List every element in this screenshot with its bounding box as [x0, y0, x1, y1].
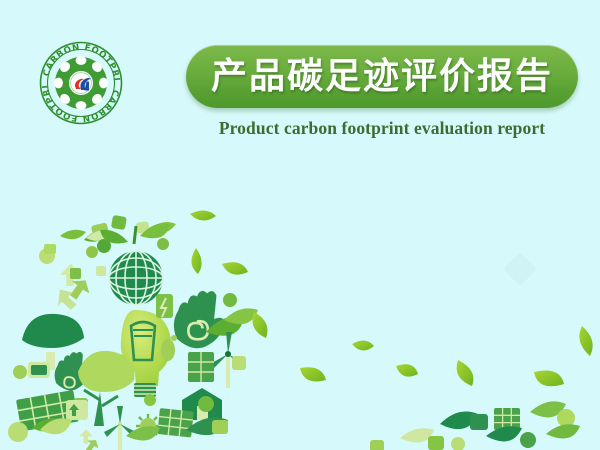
title-banner: 产品碳足迹评价报告: [186, 45, 578, 108]
leaf-icon: [352, 340, 374, 350]
hand-spiral-icon: [174, 291, 225, 348]
icon-cluster-toes: [86, 215, 176, 305]
recycle-icon-2: [79, 429, 98, 450]
report-cover-page: CARBON FOOTPRINT · CARBON FOOTPRINT ·: [0, 0, 600, 450]
globe-icon: [109, 251, 163, 305]
cover-header: CARBON FOOTPRINT · CARBON FOOTPRINT ·: [0, 0, 600, 160]
leaf-icon: [253, 312, 268, 338]
leaf-icon: [579, 326, 592, 356]
leaf-icon: [191, 248, 201, 274]
leaf-icon: [222, 262, 248, 274]
leaf-icon: [190, 210, 216, 220]
solar-panel-icon-bottom: [157, 408, 194, 437]
icon-cluster-bottom-right: [370, 401, 580, 450]
solar-panel-icon-small: [188, 352, 214, 382]
icon-cluster-heel: [39, 230, 108, 310]
leaf-icon: [300, 367, 326, 381]
page-subtitle: Product carbon footprint evaluation repo…: [186, 118, 578, 139]
falling-leaves: [190, 210, 593, 386]
leaf-icon: [534, 371, 564, 387]
page-title: 产品碳足迹评价报告: [211, 59, 553, 95]
carbon-footprint-seal-logo: CARBON FOOTPRINT · CARBON FOOTPRINT ·: [38, 40, 124, 126]
leaf-icon: [457, 360, 474, 386]
leaf-icon: [396, 364, 418, 376]
wind-turbine-icon-2: [104, 406, 136, 450]
